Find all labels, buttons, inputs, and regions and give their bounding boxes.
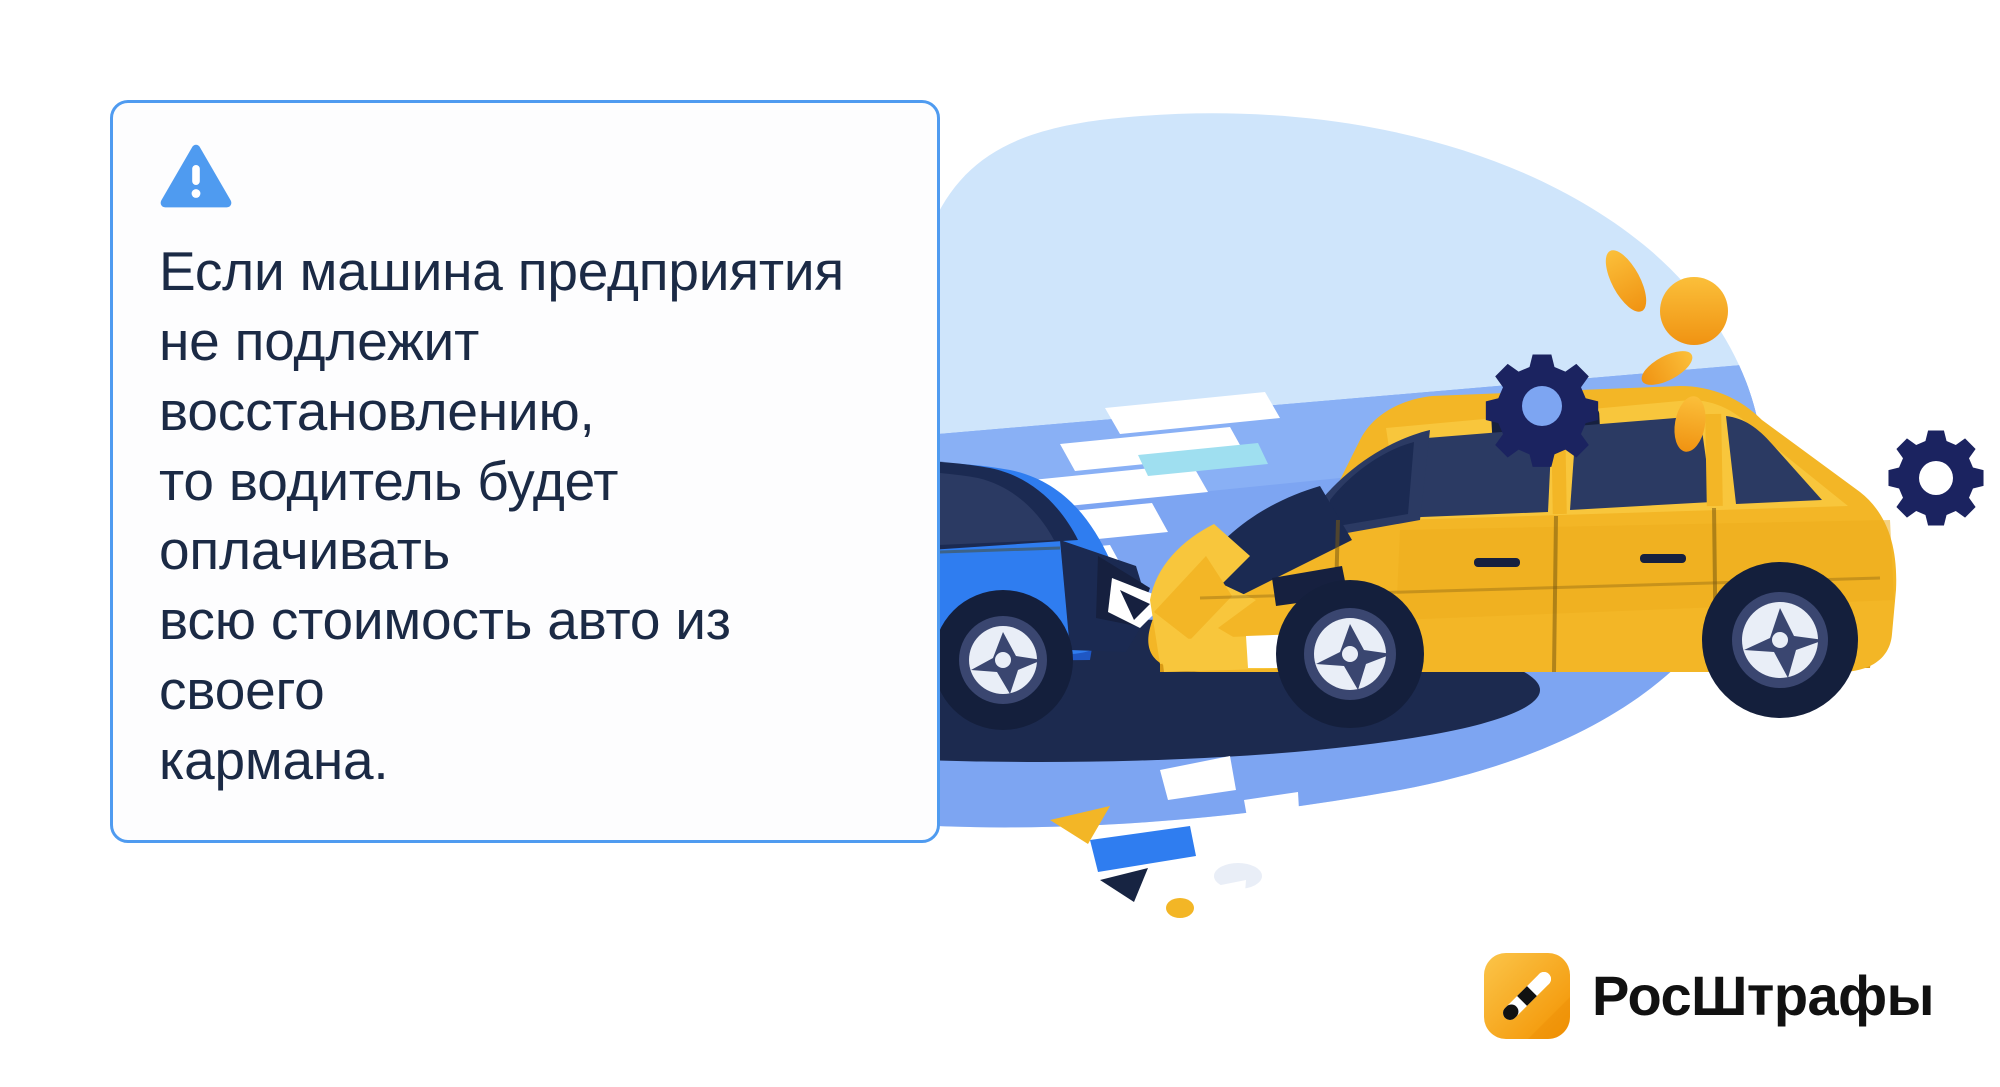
- brand-name: РосШтрафы: [1592, 968, 1934, 1024]
- warning-triangle-icon: [159, 143, 233, 211]
- brand-logo[interactable]: РосШтрафы: [1484, 953, 1934, 1039]
- infographic-canvas: Если машина предприятия не подлежит восс…: [0, 0, 2000, 1087]
- yellow-car-rear-wheel: [1702, 562, 1858, 718]
- debris-shard-navy-1: [1100, 868, 1148, 902]
- gear-small-icon: [1888, 430, 1983, 525]
- debris-shard-blue: [1090, 826, 1196, 872]
- warning-message: Если машина предприятия не подлежит восс…: [159, 237, 891, 796]
- yellow-car-front-wheel: [1276, 580, 1424, 728]
- blue-car-front-wheel: [933, 590, 1073, 730]
- warning-callout-card: Если машина предприятия не подлежит восс…: [110, 100, 940, 843]
- coin-2: [1660, 277, 1728, 345]
- baton-icon: [1484, 953, 1570, 1039]
- debris-shard-yellow-2: [1166, 898, 1194, 918]
- gear-large-icon: [1486, 355, 1598, 467]
